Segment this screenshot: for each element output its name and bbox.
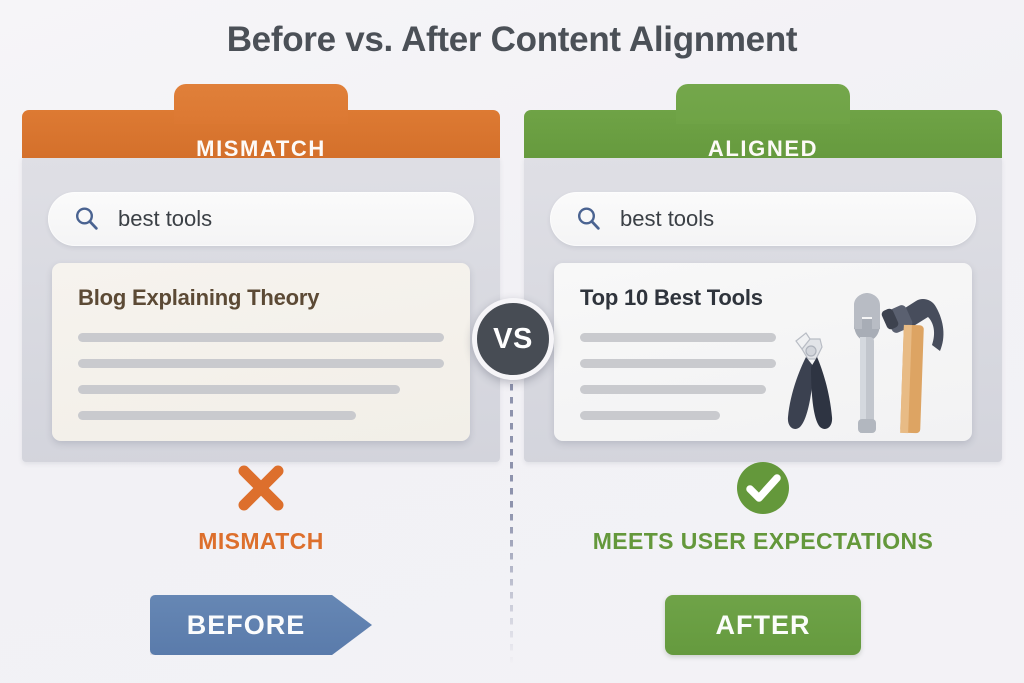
page-title: Before vs. After Content Alignment [0, 20, 1024, 60]
before-badge[interactable]: BEFORE [150, 595, 372, 655]
panel-mismatch: MISMATCH best tools Blog Explaining Theo… [22, 155, 500, 462]
result-title-left: Blog Explaining Theory [78, 285, 319, 311]
result-text-lines-right [580, 333, 776, 437]
text-line [78, 359, 444, 368]
verdict-left: MISMATCH [22, 458, 500, 555]
result-card-left[interactable]: Blog Explaining Theory [52, 263, 470, 441]
verdict-right: MEETS USER EXPECTATIONS [524, 458, 1002, 555]
tools-illustration [776, 289, 966, 439]
search-bar-right[interactable]: best tools [550, 192, 976, 246]
badge-row-left: BEFORE [22, 595, 500, 655]
text-line [580, 333, 776, 342]
panel-aligned: ALIGNED best tools Top 10 Best Tools [524, 155, 1002, 462]
tab-label-mismatch: MISMATCH [22, 136, 500, 162]
vertical-dotted-divider [510, 384, 513, 664]
result-text-lines-left [78, 333, 444, 437]
text-line [580, 411, 720, 420]
search-input-left[interactable]: best tools [118, 206, 212, 232]
cross-icon [231, 458, 291, 518]
search-bar-left[interactable]: best tools [48, 192, 474, 246]
tab-label-aligned: ALIGNED [524, 136, 1002, 162]
check-circle-icon [733, 458, 793, 518]
search-icon [74, 206, 100, 232]
text-line [78, 333, 444, 342]
hammer-icon [880, 299, 943, 433]
after-badge[interactable]: AFTER [665, 595, 861, 655]
verdict-label-right: MEETS USER EXPECTATIONS [524, 528, 1002, 555]
tab-bump-aligned [676, 84, 850, 124]
text-line [78, 411, 356, 420]
search-icon [576, 206, 602, 232]
text-line [580, 385, 766, 394]
wrench-icon [854, 293, 880, 433]
text-line [78, 385, 400, 394]
result-card-right[interactable]: Top 10 Best Tools [554, 263, 972, 441]
tab-bump-mismatch [174, 84, 348, 124]
badge-row-right: AFTER [524, 595, 1002, 655]
pliers-icon [788, 333, 832, 429]
search-input-right[interactable]: best tools [620, 206, 714, 232]
result-title-right: Top 10 Best Tools [580, 285, 763, 311]
text-line [580, 359, 776, 368]
verdict-label-left: MISMATCH [22, 528, 500, 555]
vs-badge: VS [472, 298, 554, 380]
